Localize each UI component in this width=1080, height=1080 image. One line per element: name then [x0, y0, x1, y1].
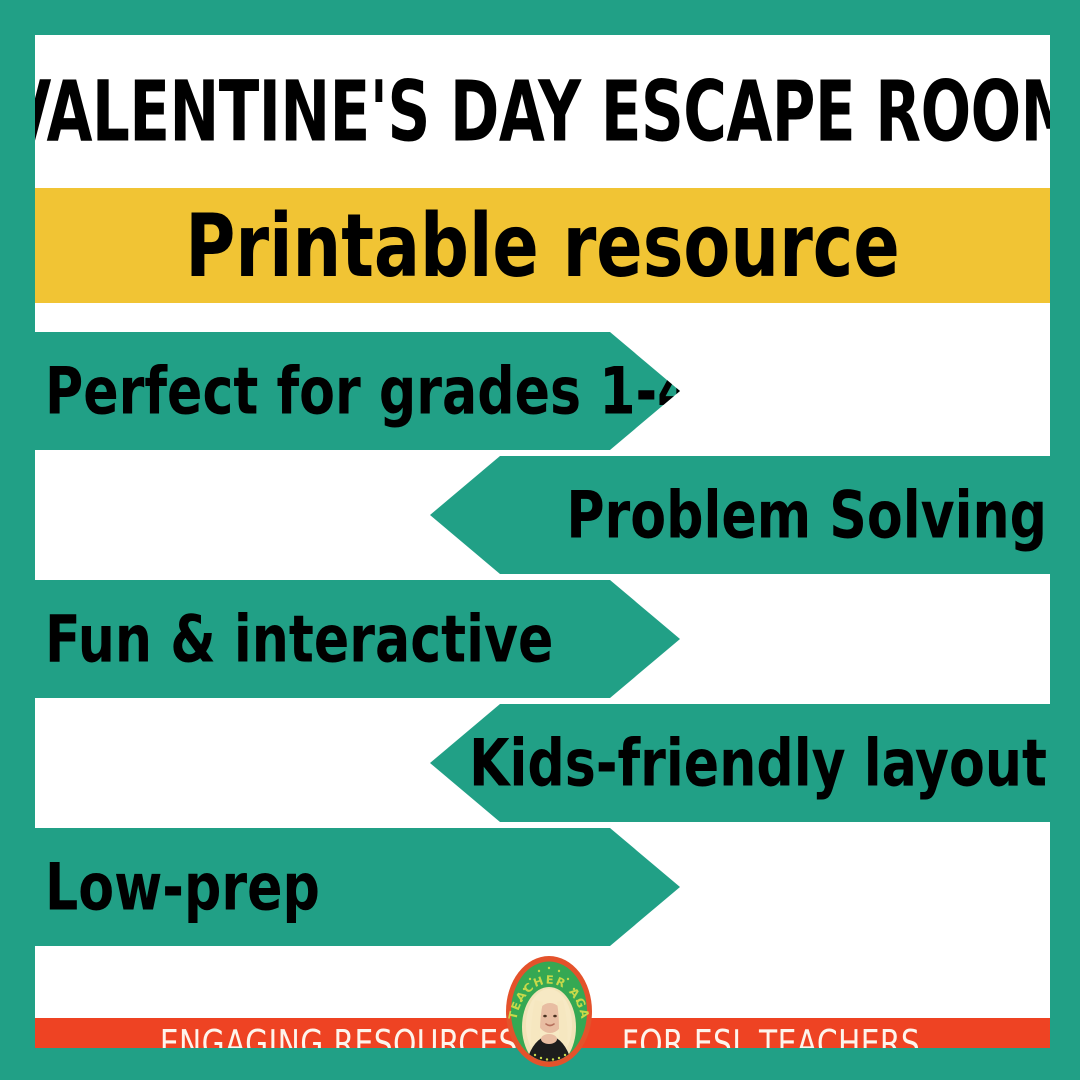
page-title: VALENTINE'S DAY ESCAPE ROOM — [35, 63, 1050, 161]
feature-banner-fun-interactive: Fun & interactive — [35, 580, 680, 698]
feature-label: Perfect for grades 1-4 — [35, 353, 693, 429]
feature-label: Fun & interactive — [35, 601, 553, 677]
subtitle-band: Printable resource — [35, 188, 1050, 303]
feature-banner-low-prep: Low-prep — [35, 828, 680, 946]
footer-right-text: FOR ESL TEACHERS — [570, 1021, 920, 1048]
feature-banner-kids-friendly: Kids-friendly layout — [430, 704, 1050, 822]
brand-logo: TEACHER AGA — [505, 955, 593, 1068]
title-band: VALENTINE'S DAY ESCAPE ROOM — [35, 35, 1050, 188]
feature-label: Kids-friendly layout — [469, 725, 1050, 801]
feature-banner-problem-solving: Problem Solving — [430, 456, 1050, 574]
subtitle-text: Printable resource — [185, 194, 899, 296]
poster-card: VALENTINE'S DAY ESCAPE ROOM Printable re… — [35, 35, 1050, 1048]
feature-label: Low-prep — [35, 849, 320, 925]
feature-banner-grades: Perfect for grades 1-4 — [35, 332, 680, 450]
feature-label: Problem Solving — [566, 477, 1050, 553]
